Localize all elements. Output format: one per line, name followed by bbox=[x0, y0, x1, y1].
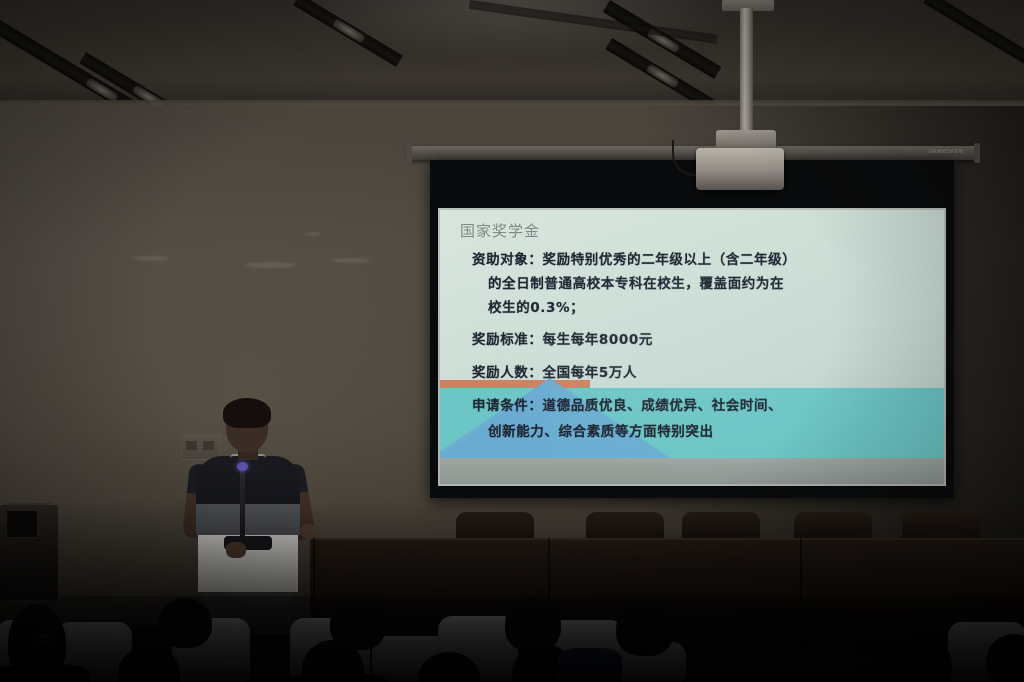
slide-line-6: 申请条件：道德品质优良、成绩优异、社会时间、 bbox=[472, 394, 782, 414]
slide-line-7: 创新能力、综合素质等方面特别突出 bbox=[488, 420, 714, 440]
slide-line-5: 奖励人数：全国每年5万人 bbox=[472, 361, 637, 381]
projector-mount-bracket bbox=[716, 130, 776, 150]
lower-room-shadow bbox=[0, 500, 1024, 682]
ceiling bbox=[0, 0, 1024, 108]
slide-title: 国家奖学金 bbox=[460, 220, 540, 241]
wall-scuff-1 bbox=[132, 256, 170, 261]
microphone-led-icon bbox=[237, 462, 248, 471]
projector-mount-pole bbox=[740, 8, 753, 136]
wall-scuff-3 bbox=[330, 258, 370, 263]
slide-line-2: 的全日制普通高校本专科在校生，覆盖面约为在 bbox=[488, 272, 784, 292]
slide-line-4: 奖励标准：每生每年8000元 bbox=[472, 328, 653, 348]
classroom-presentation-scene: GRANDVIEW 国家奖学金 资助对象：奖励特别优秀的二年级以上（含二年级） … bbox=[0, 0, 1024, 682]
projection-screen: 国家奖学金 资助对象：奖励特别优秀的二年级以上（含二年级） 的全日制普通高校本专… bbox=[430, 160, 954, 498]
projected-slide: 国家奖学金 资助对象：奖励特别优秀的二年级以上（含二年级） 的全日制普通高校本专… bbox=[440, 210, 944, 458]
slide-content: 国家奖学金 资助对象：奖励特别优秀的二年级以上（含二年级） 的全日制普通高校本专… bbox=[440, 210, 944, 458]
screen-blank-strip bbox=[440, 458, 944, 484]
slide-line-3: 校生的0.3%； bbox=[488, 296, 584, 316]
screen-brand-label: GRANDVIEW bbox=[929, 149, 964, 155]
slide-line-1: 资助对象：奖励特别优秀的二年级以上（含二年级） bbox=[472, 248, 796, 268]
wall-scuff-2 bbox=[245, 262, 297, 268]
presenter-hair bbox=[223, 398, 271, 428]
ceiling-light-strip-6 bbox=[923, 0, 1024, 65]
projector bbox=[696, 148, 784, 190]
wall-scuff-4 bbox=[305, 232, 321, 236]
